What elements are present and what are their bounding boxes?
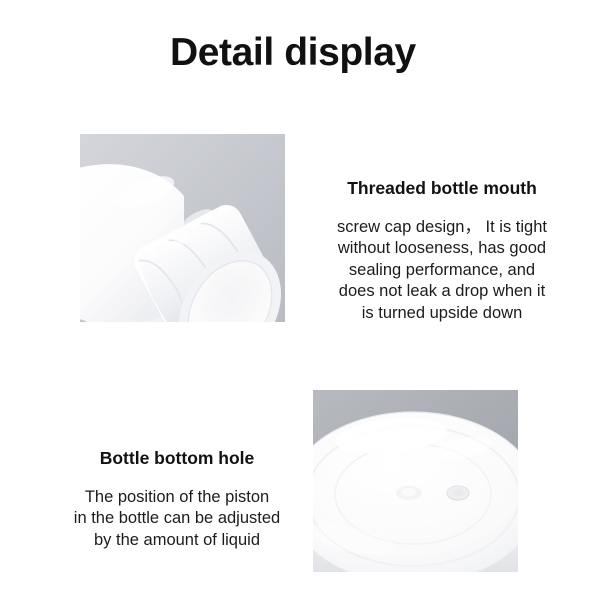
body-line: by the amount of liquid — [44, 530, 310, 552]
body-line: screw cap design， It is tight — [298, 217, 586, 239]
detail-display-page: Detail display — [0, 0, 600, 600]
bottle-bottom-illustration — [313, 390, 518, 572]
section-body-bottle-bottom-hole: The position of the piston in the bottle… — [44, 487, 310, 552]
threaded-bottle-neck-illustration — [80, 134, 285, 322]
section-heading-bottle-bottom-hole: Bottle bottom hole — [44, 448, 310, 470]
body-line: does not leak a drop when it — [298, 281, 586, 303]
section-threaded-bottle-mouth: Threaded bottle mouth screw cap design， … — [298, 178, 586, 324]
body-line: sealing performance, and — [298, 260, 586, 282]
body-line: The position of the piston — [44, 487, 310, 509]
section-heading-threaded-bottle-mouth: Threaded bottle mouth — [298, 178, 586, 200]
vent-hole — [447, 487, 469, 501]
section-bottle-bottom-hole: Bottle bottom hole The position of the p… — [44, 448, 310, 551]
body-line: in the bottle can be adjusted — [44, 508, 310, 530]
page-title: Detail display — [170, 32, 416, 75]
body-line: is turned upside down — [298, 303, 586, 325]
body-line: without looseness, has good — [298, 238, 586, 260]
threaded-bottle-neck-photo — [80, 134, 285, 322]
bottle-bottom-hole-photo — [313, 390, 518, 572]
section-body-threaded-bottle-mouth: screw cap design， It is tight without lo… — [298, 217, 586, 325]
